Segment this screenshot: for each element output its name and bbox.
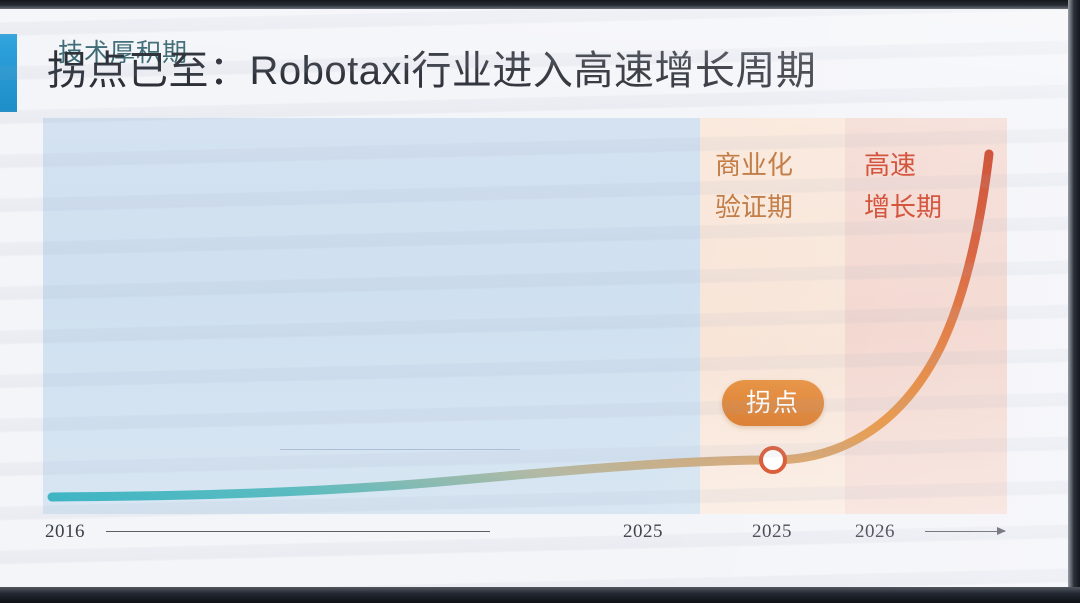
axis-tick-2026: 2026 <box>855 520 895 544</box>
screen-bezel-bottom <box>0 587 1080 603</box>
axis-line-left <box>106 531 490 532</box>
axis-tick-2016: 2016 <box>45 520 85 544</box>
screen-bezel-top <box>0 0 1080 9</box>
title-accent-bar <box>0 34 17 112</box>
growth-chart-panel <box>43 118 1007 514</box>
screen-bezel-right <box>1068 0 1080 603</box>
axis-arrow-icon <box>925 531 1005 532</box>
chart-gridline <box>280 449 520 450</box>
axis-tick-2025-b: 2025 <box>752 520 792 544</box>
phase-band-tech <box>43 118 700 514</box>
inflection-point-marker <box>759 446 787 474</box>
slide-photo: 拐点已至：Robotaxi行业进入高速增长周期 技术厚积期 商业化 验证期 高速… <box>0 0 1080 603</box>
axis-tick-2025-a: 2025 <box>623 520 663 544</box>
page-title: 拐点已至：Robotaxi行业进入高速增长周期 <box>47 44 947 98</box>
phase-label-growth: 高速 增长期 <box>864 144 942 228</box>
slide-surface: 拐点已至：Robotaxi行业进入高速增长周期 技术厚积期 商业化 验证期 高速… <box>0 8 1070 592</box>
phase-label-commercial: 商业化 验证期 <box>715 144 793 228</box>
timeline-axis: 2016 2025 2025 2026 <box>0 514 1070 564</box>
inflection-point-badge: 拐点 <box>722 380 824 426</box>
